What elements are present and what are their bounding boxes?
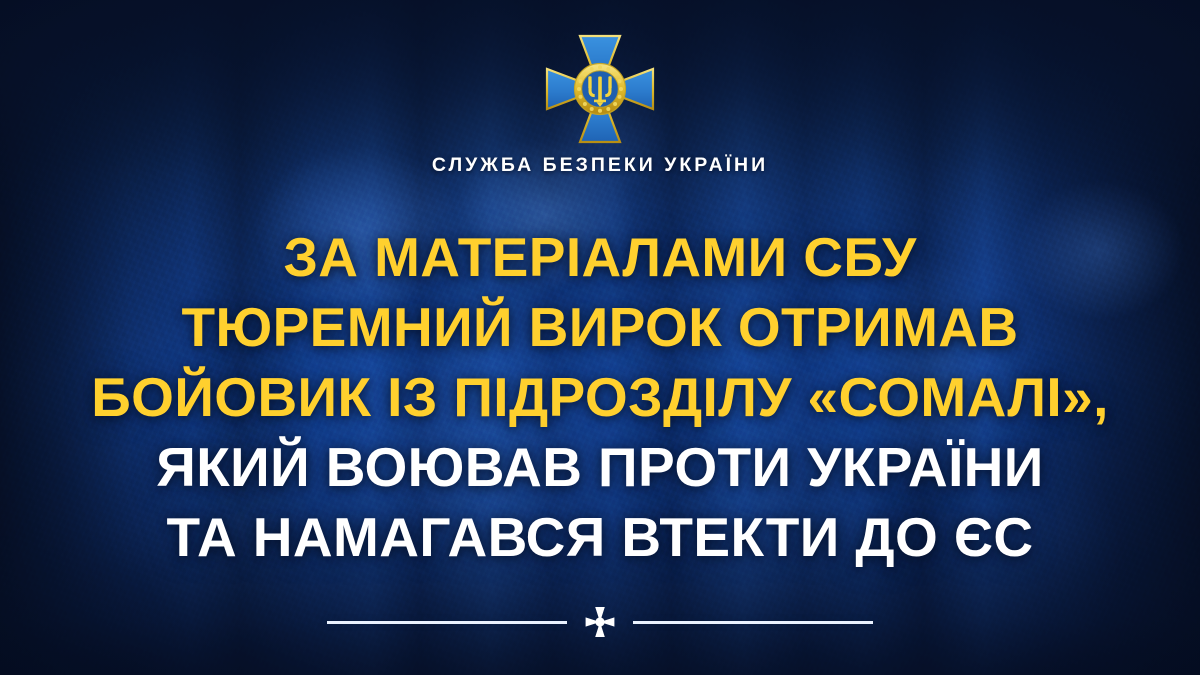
poster-content: СЛУЖБА БЕЗПЕКИ УКРАЇНИ ЗА МАТЕРІАЛАМИ СБ…: [0, 0, 1200, 675]
poster-canvas: СЛУЖБА БЕЗПЕКИ УКРАЇНИ ЗА МАТЕРІАЛАМИ СБ…: [0, 0, 1200, 675]
headline-line-5: ТА НАМАГАВСЯ ВТЕКТИ ДО ЄС: [0, 502, 1200, 572]
divider-rule-right: [633, 621, 873, 624]
divider-rule-left: [327, 621, 567, 624]
emblem-container: [0, 30, 1200, 148]
organization-name: СЛУЖБА БЕЗПЕКИ УКРАЇНИ: [0, 156, 1200, 176]
bottom-ornament: [0, 606, 1200, 638]
maltese-cross-icon: [585, 606, 615, 638]
headline-line-3: БОЙОВИК ІЗ ПІДРОЗДІЛУ «СОМАЛІ»,: [0, 362, 1200, 432]
headline-block: ЗА МАТЕРІАЛАМИ СБУ ТЮРЕМНИЙ ВИРОК ОТРИМА…: [0, 222, 1200, 572]
headline-line-1: ЗА МАТЕРІАЛАМИ СБУ: [0, 222, 1200, 292]
headline-line-4: ЯКИЙ ВОЮВАВ ПРОТИ УКРАЇНИ: [0, 432, 1200, 502]
sbu-cross-crest-icon: [544, 30, 656, 148]
headline-line-2: ТЮРЕМНИЙ ВИРОК ОТРИМАВ: [0, 292, 1200, 362]
